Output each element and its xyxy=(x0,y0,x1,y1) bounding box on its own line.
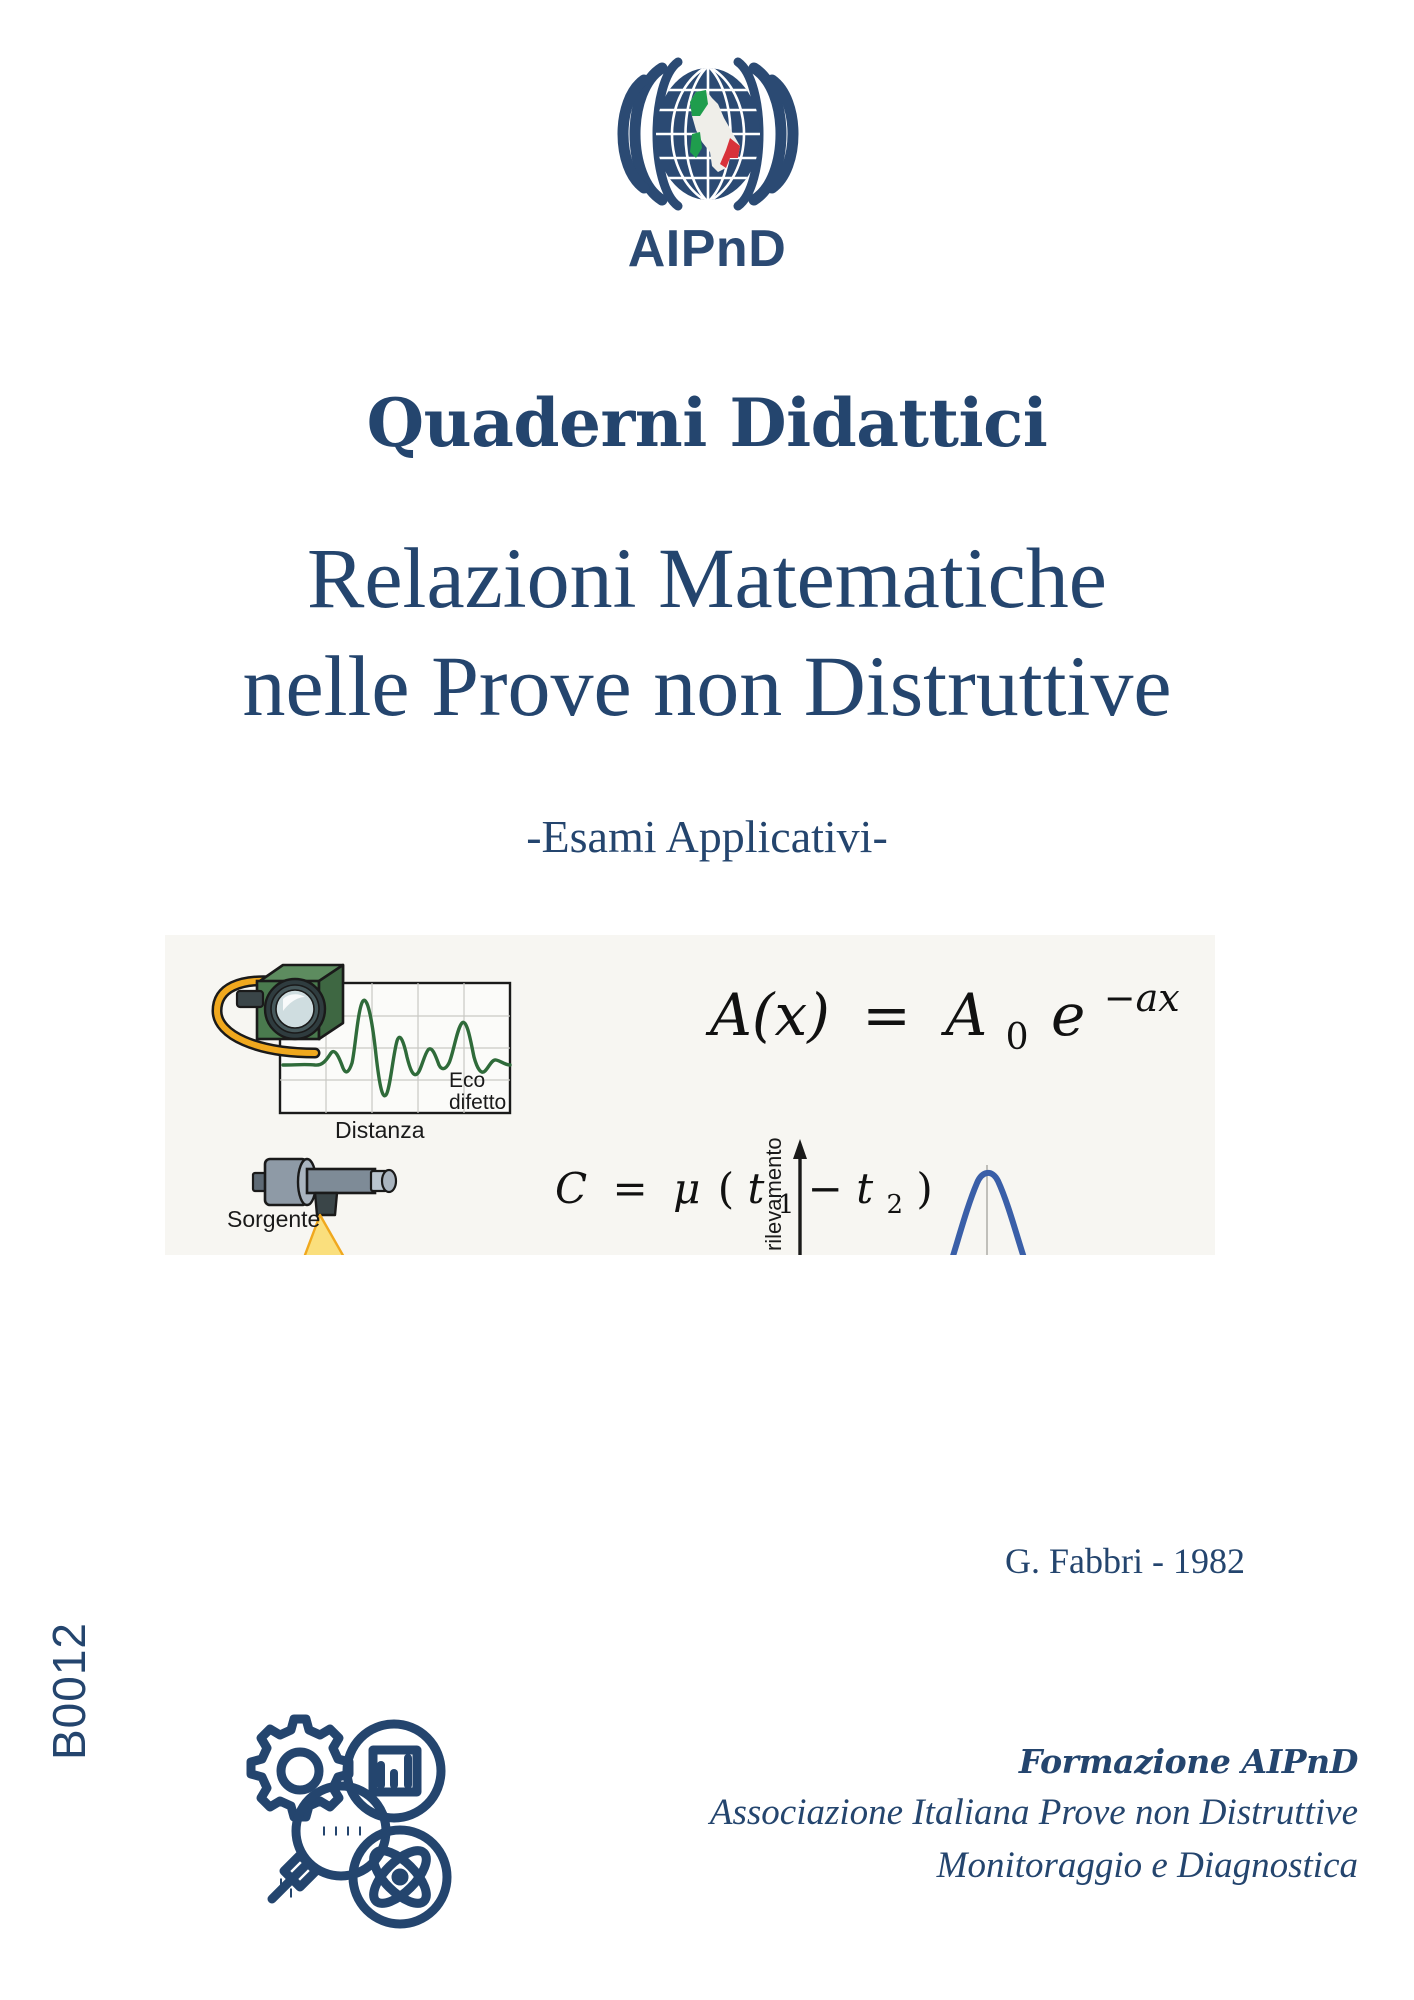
analysis-tools-icon xyxy=(228,1705,458,1935)
organization-line2: Associazione Italiana Prove non Distrutt… xyxy=(710,1791,1358,1834)
formula-contrast-minus: − xyxy=(808,1164,843,1213)
radiography-source-label-top: Sorgente xyxy=(227,1206,320,1232)
svg-text:A(x) = A: A(x) = A 0 e −ax xyxy=(705,976,1180,1063)
formula-contrast-t2: t xyxy=(856,1164,873,1213)
radiography-diagram: Sorgente Sorgente Contracıt xyxy=(227,1159,581,1255)
formula-contrast-sub2: 2 xyxy=(886,1190,903,1220)
ultrasonic-diagram: Eco difetto Distanza xyxy=(217,965,510,1143)
formula-attenuation-lhs: A(x) xyxy=(705,981,830,1049)
formula-contrast-lhs: C xyxy=(555,1164,587,1213)
organization-line3: Monitoraggio e Diagnostica xyxy=(710,1844,1358,1887)
svg-text:C = μ: C = μ ( t 1 − t 2 ) xyxy=(555,1164,933,1223)
ultrasonic-echo-label-line1: Eco xyxy=(449,1069,485,1092)
formula-attenuation-exp: −ax xyxy=(1104,976,1180,1020)
illustration-panel: Eco difetto Distanza xyxy=(165,935,1215,1255)
formula-attenuation-eq: = xyxy=(862,981,911,1049)
page-title: Relazioni Matematiche nelle Prove non Di… xyxy=(0,524,1414,741)
author-line: G. Fabbri - 1982 xyxy=(0,1540,1245,1582)
formula-contrast: C = μ ( t 1 − t 2 ) xyxy=(555,1164,933,1223)
formula-contrast-eq: = xyxy=(613,1164,648,1213)
organization-block: Formazione AIPnD Associazione Italiana P… xyxy=(710,1742,1358,1887)
formula-attenuation-sub: 0 xyxy=(1006,1017,1029,1058)
formula-attenuation-e: e xyxy=(1051,981,1085,1049)
formula-contrast-mu: μ xyxy=(673,1164,700,1213)
ultrasonic-echo-label-line2: difetto xyxy=(449,1091,506,1114)
series-kicker: Quaderni Didattici xyxy=(0,384,1414,462)
page-title-line2: nelle Prove non Distruttive xyxy=(0,632,1414,740)
aipnd-globe-logo xyxy=(600,46,815,221)
formula-attenuation-base: A xyxy=(940,981,987,1049)
page-title-line1: Relazioni Matematiche xyxy=(0,524,1414,632)
aipnd-wordmark: AIPnD xyxy=(628,223,787,275)
aipnd-logo-block: AIPnD xyxy=(0,46,1414,275)
document-code: B0012 xyxy=(42,1530,102,1760)
page-subtitle: -Esami Applicativi- xyxy=(0,810,1414,863)
cover-page: AIPnD Quaderni Didattici Relazioni Matem… xyxy=(0,0,1414,2000)
pod-chart-ylabel: Prcbabiiià di rilevamento xyxy=(761,1137,786,1255)
organization-line1: Formazione AIPnD xyxy=(710,1742,1358,1781)
ultrasonic-xaxis-label: Distanza xyxy=(335,1117,425,1143)
formula-attenuation: A(x) = A 0 e −ax xyxy=(705,976,1180,1063)
